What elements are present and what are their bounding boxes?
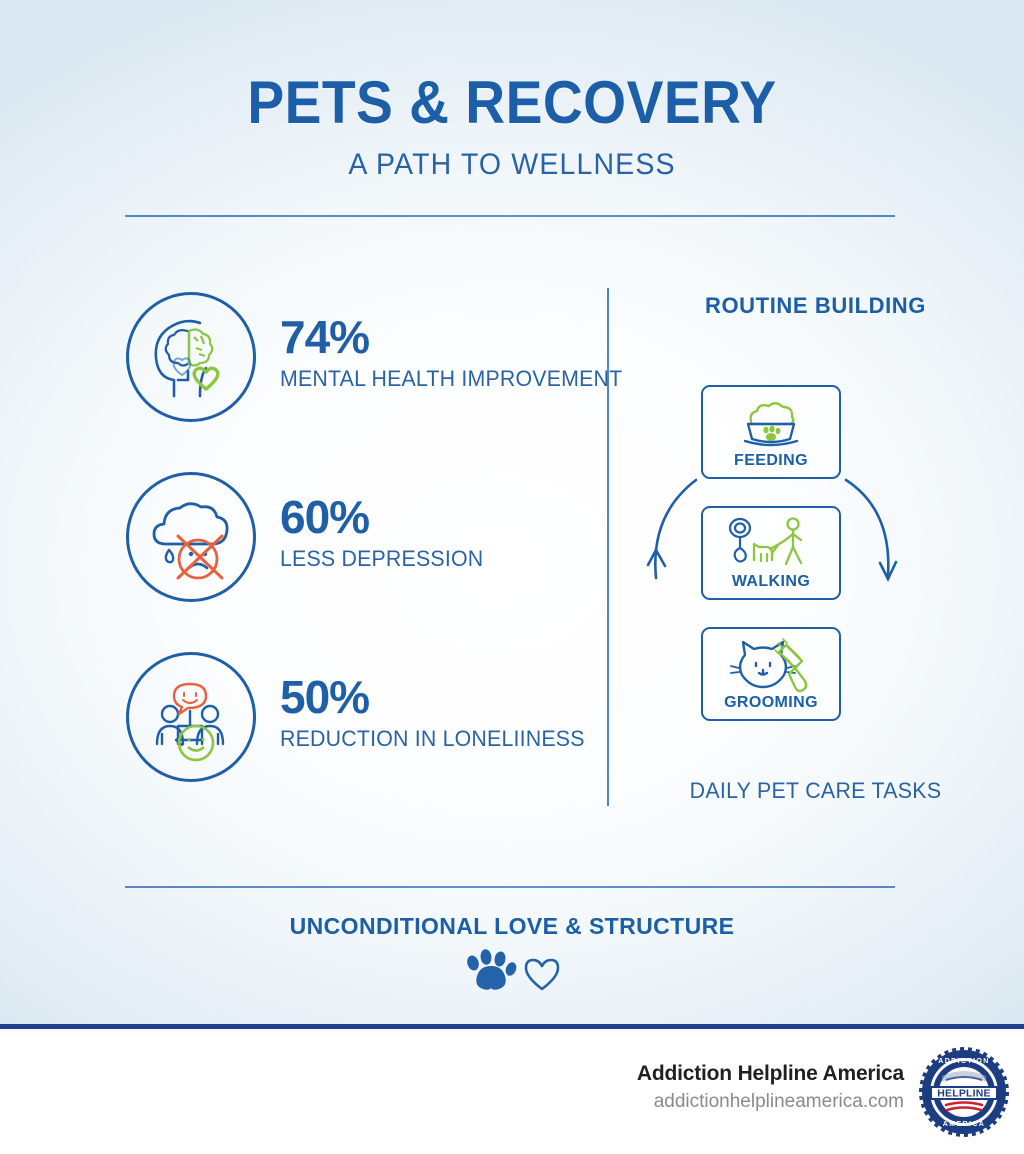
stat-value: 60% — [280, 490, 369, 544]
routine-cycle: FEEDING — [640, 360, 970, 760]
heart-outline-icon — [526, 960, 558, 989]
logo-middle-text: HELPLINE — [937, 1088, 991, 1100]
cat-brush-icon — [729, 637, 813, 700]
footer-brand-name: Addiction Helpline America — [637, 1062, 904, 1086]
page-title: PETS & RECOVERY — [41, 68, 983, 137]
stat-item: 74% MENTAL HEALTH IMPROVEMENT — [118, 288, 598, 468]
people-group-smiley-icon — [126, 652, 256, 782]
stat-item: 50% REDUCTION IN LONELIINESS — [118, 648, 598, 828]
statistics-list: 74% MENTAL HEALTH IMPROVEMENT 60% LESS — [118, 288, 598, 828]
logo-top-text: ADDICTION — [938, 1058, 990, 1065]
divider-bottom — [125, 886, 895, 888]
divider-top — [125, 215, 895, 217]
routine-building-title: ROUTINE BUILDING — [607, 293, 1024, 319]
leash-dog-walker-icon — [726, 516, 816, 579]
routine-card-grooming[interactable]: GROOMING — [701, 627, 841, 721]
footer-website-url[interactable]: addictionhelplineamerica.com — [654, 1091, 904, 1113]
routine-card-walking[interactable]: WALKING — [701, 506, 841, 600]
page-subtitle: A PATH TO WELLNESS — [26, 148, 999, 182]
routine-card-label: GROOMING — [703, 694, 839, 712]
paw-print-icon — [465, 949, 518, 990]
logo-bottom-text: AMERICA — [943, 1121, 985, 1128]
stat-value: 74% — [280, 310, 369, 364]
pet-food-bowl-icon — [739, 395, 803, 456]
tagline-icons — [0, 948, 1024, 999]
addiction-helpline-america-seal-logo: HELPLINE ADDICTION AMERICA — [918, 1046, 1010, 1138]
infographic-page: PETS & RECOVERY A PATH TO WELLNESS — [0, 0, 1024, 1154]
head-brain-heart-icon — [126, 292, 256, 422]
stat-item: 60% LESS DEPRESSION — [118, 468, 598, 648]
routine-card-label: WALKING — [703, 573, 839, 591]
stat-label: MENTAL HEALTH IMPROVEMENT — [280, 366, 697, 391]
stat-label: LESS DEPRESSION — [280, 546, 697, 571]
routine-card-feeding[interactable]: FEEDING — [701, 385, 841, 479]
tagline: UNCONDITIONAL LOVE & STRUCTURE — [0, 913, 1024, 940]
routine-card-label: FEEDING — [703, 452, 839, 470]
stat-label: REDUCTION IN LONELIINESS — [280, 726, 697, 751]
rain-cloud-sad-face-crossed-out-icon — [126, 472, 256, 602]
stat-value: 50% — [280, 670, 369, 724]
routine-caption: DAILY PET CARE TASKS — [613, 778, 1017, 804]
